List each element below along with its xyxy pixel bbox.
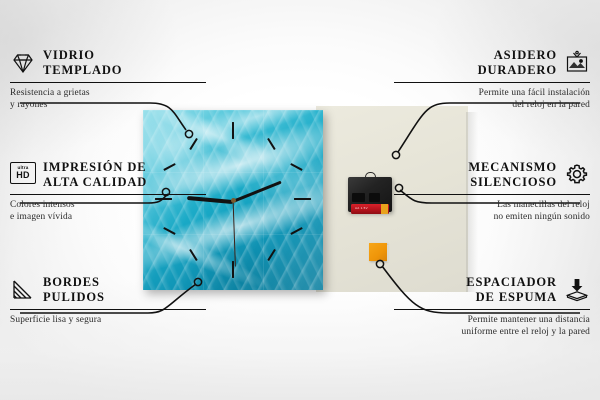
feature-impresion-alta-calidad: ultra HD IMPRESIÓN DEALTA CALIDAD Colore…	[10, 160, 206, 224]
feature-divider	[10, 82, 206, 83]
tick-4	[290, 227, 302, 235]
clock-center-cap	[231, 198, 236, 203]
tick-12	[232, 122, 234, 139]
feature-title: ASIDERODURADERO	[478, 48, 557, 79]
feature-asidero-duradero: ASIDERODURADERO Permite una fácil instal…	[394, 48, 590, 112]
tick-3	[294, 198, 311, 200]
clock-second-hand	[232, 201, 235, 267]
feature-divider	[10, 194, 206, 195]
feature-header: ASIDERODURADERO	[394, 48, 590, 79]
feature-title: BORDESPULIDOS	[43, 275, 105, 306]
tick-2	[290, 163, 302, 171]
polished-edges-icon	[10, 277, 36, 303]
foam-spacer-piece	[369, 243, 387, 261]
mechanism-slot-right	[369, 193, 380, 202]
clock-mechanism: AA 1.5V	[348, 172, 392, 212]
clock-minute-hand	[232, 181, 281, 204]
feature-vidrio-templado: VIDRIOTEMPLADO Resistencia a grietasy ra…	[10, 48, 206, 112]
feature-divider	[394, 194, 590, 195]
tick-5	[267, 249, 275, 261]
feature-bordes-pulidos: BORDESPULIDOS Superficie lisa y segura	[10, 275, 206, 326]
battery-positive-terminal	[381, 204, 388, 214]
feature-divider	[10, 309, 206, 310]
tick-6	[232, 261, 234, 278]
feature-header: MECANISMOSILENCIOSO	[394, 160, 590, 191]
feature-title: MECANISMOSILENCIOSO	[468, 160, 557, 191]
hanging-frame-icon	[564, 50, 590, 76]
mechanism-body: AA 1.5V	[348, 177, 392, 212]
feature-description: Resistencia a grietasy rayones	[10, 87, 206, 112]
battery-label: AA 1.5V	[355, 206, 368, 210]
feature-divider	[394, 309, 590, 310]
feature-description: Permite mantener una distanciauniforme e…	[394, 314, 590, 339]
feature-header: ESPACIADORDE ESPUMA	[394, 275, 590, 306]
gear-icon	[564, 162, 590, 188]
feature-title: IMPRESIÓN DEALTA CALIDAD	[43, 160, 147, 191]
feature-divider	[394, 82, 590, 83]
feature-header: VIDRIOTEMPLADO	[10, 48, 206, 79]
feature-description: Colores intensose imagen vívida	[10, 199, 206, 224]
tick-1	[267, 138, 275, 150]
mechanism-slot-left	[352, 193, 365, 202]
ultra-hd-icon-main-text: HD	[16, 171, 29, 180]
feature-header: ultra HD IMPRESIÓN DEALTA CALIDAD	[10, 160, 206, 191]
tick-7	[189, 249, 197, 261]
feature-description: Permite una fácil instalacióndel reloj e…	[394, 87, 590, 112]
feature-mecanismo-silencioso: MECANISMOSILENCIOSO Las manecillas del r…	[394, 160, 590, 224]
foam-spacer-icon	[564, 277, 590, 303]
diamond-icon	[10, 50, 36, 76]
feature-espaciador-de-espuma: ESPACIADORDE ESPUMA Permite mantener una…	[394, 275, 590, 339]
feature-description: Las manecillas del relojno emiten ningún…	[394, 199, 590, 224]
infographic-canvas: AA 1.5V	[0, 0, 600, 400]
feature-description: Superficie lisa y segura	[10, 314, 206, 327]
feature-title: VIDRIOTEMPLADO	[43, 48, 122, 79]
tick-11	[189, 138, 197, 150]
tick-8	[163, 227, 175, 235]
mechanism-battery: AA 1.5V	[351, 204, 389, 214]
ultra-hd-icon: ultra HD	[10, 162, 36, 188]
feature-header: BORDESPULIDOS	[10, 275, 206, 306]
feature-title: ESPACIADORDE ESPUMA	[466, 275, 557, 306]
